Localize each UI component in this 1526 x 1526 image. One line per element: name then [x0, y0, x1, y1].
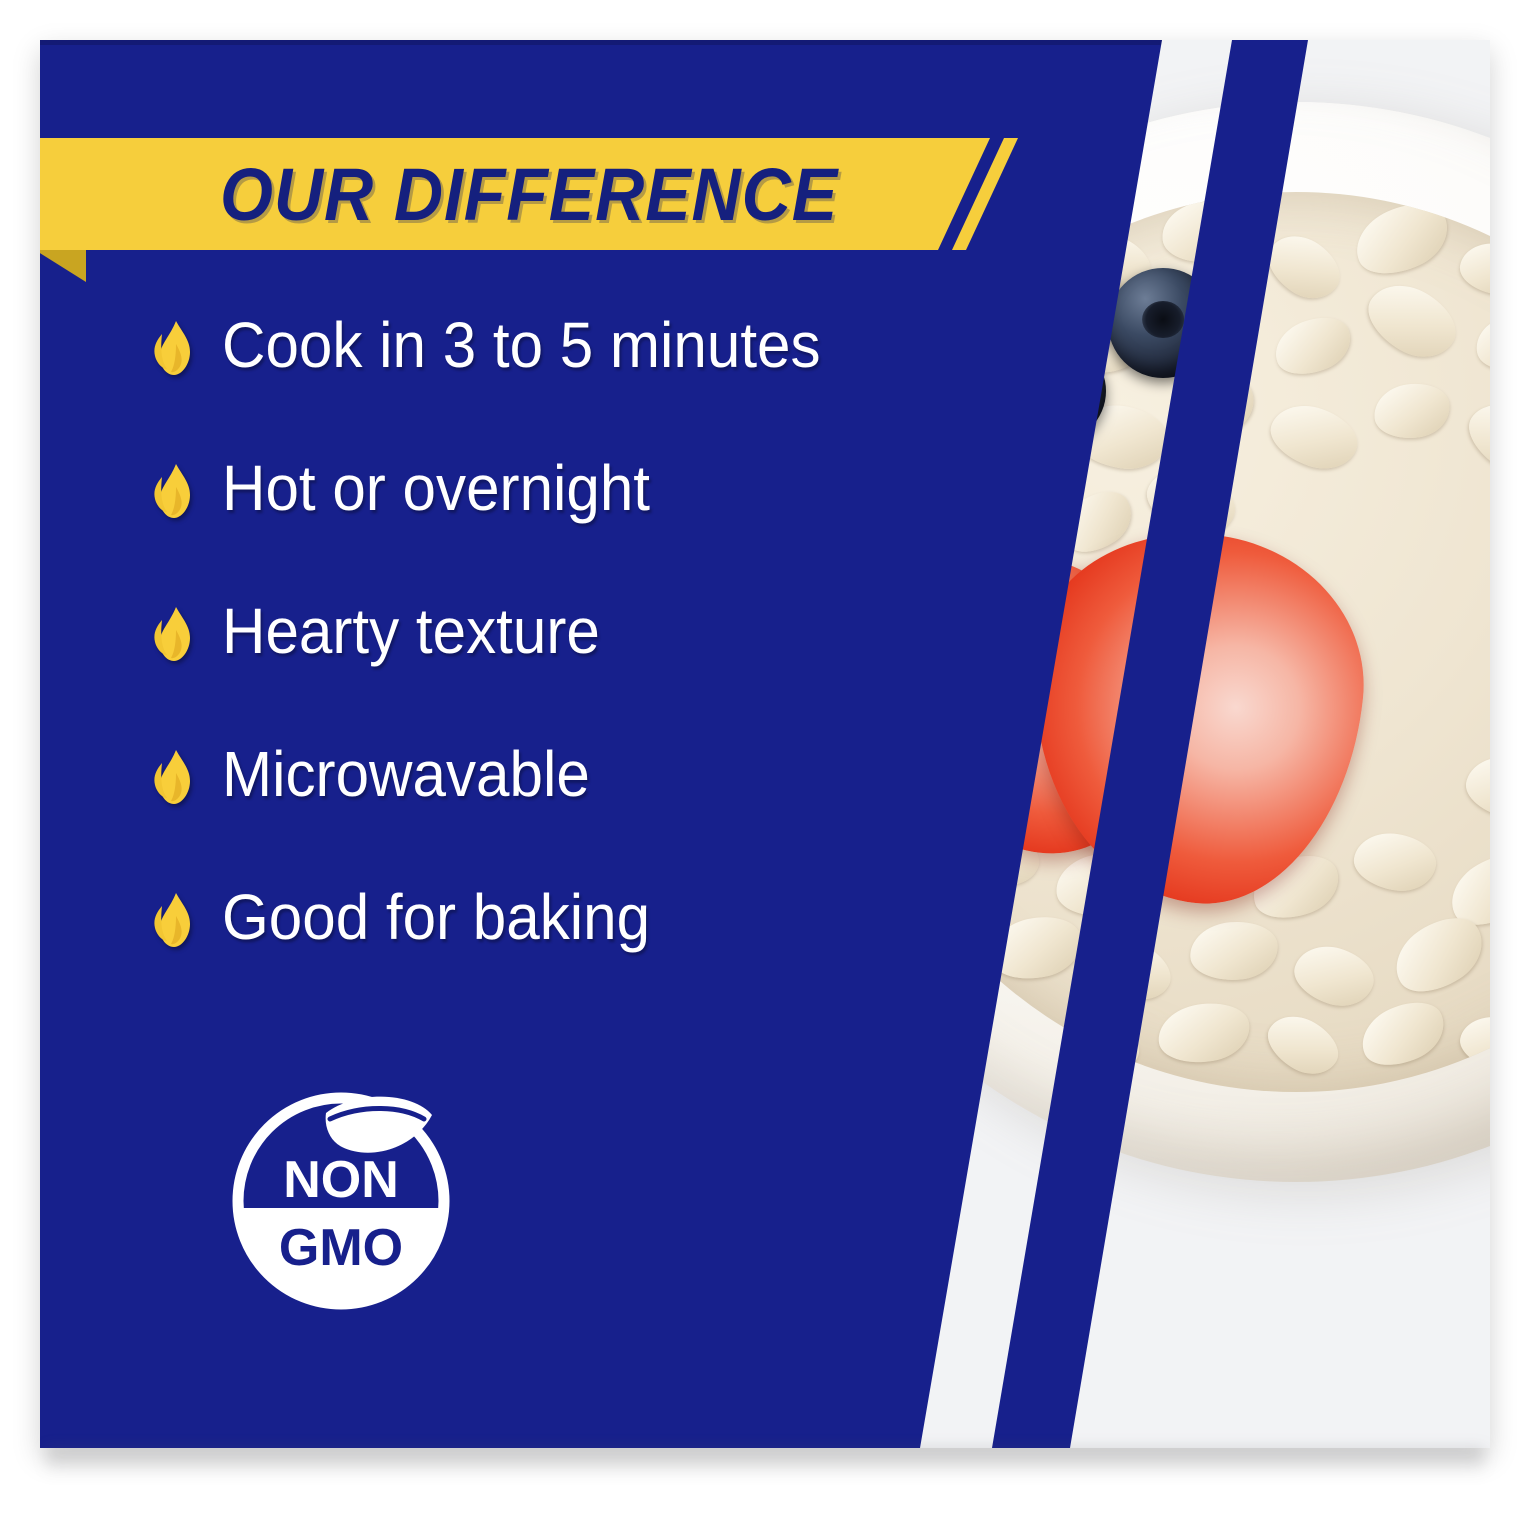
flame-icon [152, 320, 196, 376]
badge-line-2: GMO [279, 1219, 403, 1277]
list-item-label: Hot or overnight [222, 455, 650, 521]
list-item-label: Microwavable [222, 741, 590, 807]
badge-line-1: NON [283, 1151, 399, 1209]
list-item: Hearty texture [152, 598, 972, 741]
flame-icon [152, 892, 196, 948]
list-item: Good for baking [152, 884, 972, 1027]
flame-icon [152, 606, 196, 662]
card-shadow [46, 1448, 1484, 1474]
list-item-label: Good for baking [222, 884, 650, 950]
page-title: OUR DIFFERENCE [220, 144, 838, 244]
list-item: Microwavable [152, 741, 972, 884]
product-feature-card: OUR DIFFERENCE Cook in 3 to 5 minutes [40, 40, 1490, 1448]
flame-icon [152, 749, 196, 805]
image-canvas: OUR DIFFERENCE Cook in 3 to 5 minutes [0, 0, 1526, 1526]
leaf-icon [326, 1097, 432, 1153]
list-item: Hot or overnight [152, 455, 972, 598]
list-item: Cook in 3 to 5 minutes [152, 312, 972, 455]
flame-icon [152, 463, 196, 519]
list-item-label: Hearty texture [222, 598, 600, 664]
feature-list: Cook in 3 to 5 minutes Hot or overnight [152, 312, 972, 1027]
list-item-label: Cook in 3 to 5 minutes [222, 312, 821, 378]
panel-top-edge [40, 40, 1340, 45]
non-gmo-badge: NON GMO [218, 1075, 464, 1321]
